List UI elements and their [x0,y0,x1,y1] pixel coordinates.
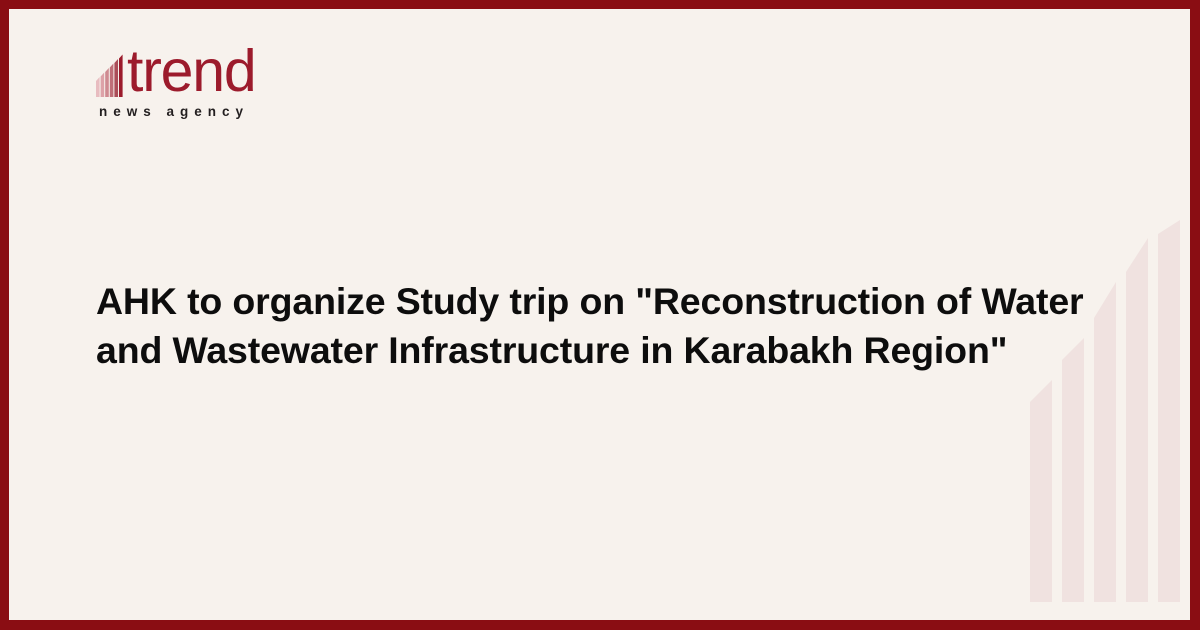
article-headline: AHK to organize Study trip on "Reconstru… [96,277,1096,375]
card-canvas: trend news agency AHK to organize Study … [9,9,1190,620]
trend-rising-bars-mark-icon [96,51,126,97]
logo-tagline: news agency [99,104,255,119]
social-share-card: trend news agency AHK to organize Study … [0,0,1200,630]
logo-wordmark: trend [127,47,255,97]
deco-bar-1 [1030,380,1052,602]
deco-bar-3 [1094,282,1116,602]
trend-news-agency-logo[interactable]: trend news agency [96,47,255,119]
logo-row: trend [96,47,255,97]
deco-bar-2 [1062,338,1084,602]
deco-bar-4 [1126,238,1148,602]
deco-bar-5 [1158,220,1180,602]
rising-bar-chart-watermark [860,190,1190,620]
rising-bar-chart-svg [860,190,1190,620]
